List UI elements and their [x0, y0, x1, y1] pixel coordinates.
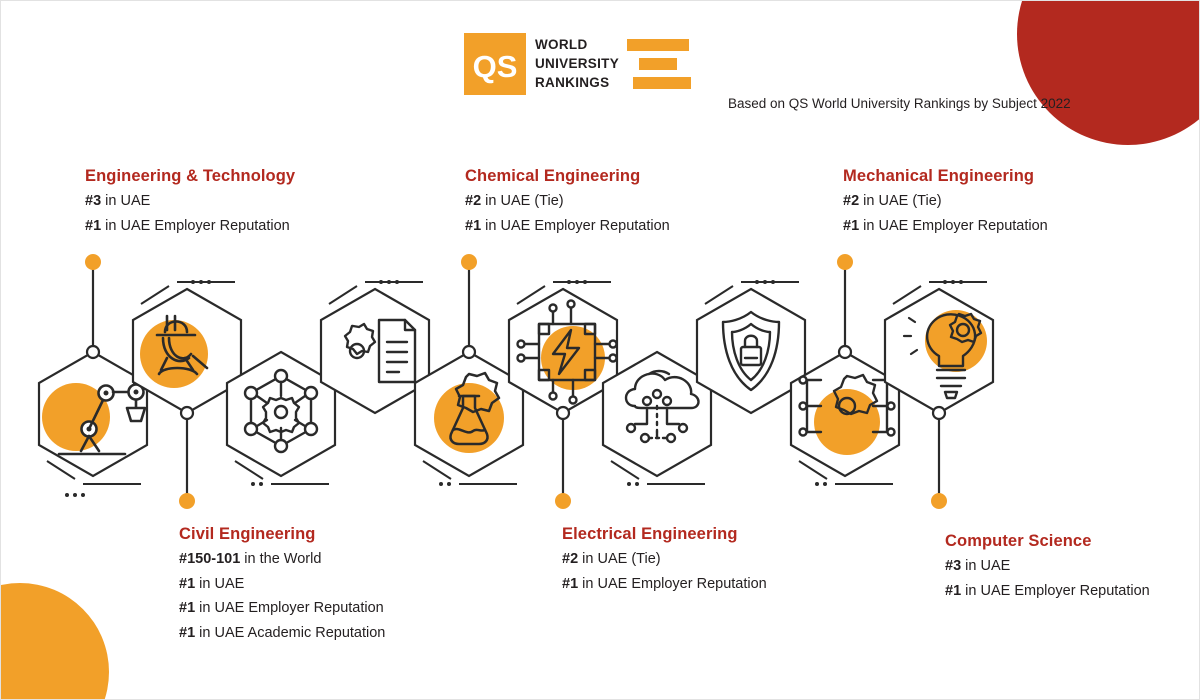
qs-word-rankings: RANKINGS — [535, 76, 627, 90]
stem-computer-science — [931, 407, 947, 509]
rank-value: #1 — [179, 625, 195, 641]
qs-word-university: UNIVERSITY — [535, 57, 627, 71]
rank-value: #1 — [179, 576, 195, 592]
rank-value: #3 — [85, 193, 101, 209]
qs-logo-mark: QS — [464, 33, 526, 95]
callout-civil-engineering: Civil Engineering #150-101 in the World … — [179, 525, 385, 642]
callout-line: #1 in UAE Employer Reputation — [179, 600, 385, 617]
callout-line: #3 in UAE — [85, 193, 295, 210]
qs-logo-line-2: UNIVERSITY — [535, 56, 691, 73]
rank-text: in UAE (Tie) — [578, 551, 660, 567]
qs-logo-line-3: RANKINGS — [535, 75, 691, 92]
qs-bar-1 — [627, 39, 689, 51]
rank-text: in UAE Employer Reputation — [578, 576, 767, 592]
rank-text: in UAE — [961, 558, 1010, 574]
rank-text: in UAE Employer Reputation — [961, 583, 1150, 599]
rank-text: in the World — [240, 551, 321, 567]
callout-line: #1 in UAE Employer Reputation — [562, 576, 767, 593]
callout-line: #1 in UAE Academic Reputation — [179, 625, 385, 642]
callout-mechanical-engineering: Mechanical Engineering #2 in UAE (Tie) #… — [843, 167, 1048, 234]
callout-line: #2 in UAE (Tie) — [843, 193, 1048, 210]
callout-chemical-engineering: Chemical Engineering #2 in UAE (Tie) #1 … — [465, 167, 670, 234]
callout-line: #1 in UAE Employer Reputation — [945, 583, 1150, 600]
rank-value: #2 — [562, 551, 578, 567]
stem-engineering-technology — [85, 254, 101, 358]
rank-value: #1 — [562, 576, 578, 592]
source-note: Based on QS World University Rankings by… — [728, 96, 1071, 111]
callout-line: #1 in UAE — [179, 576, 385, 593]
callout-line: #1 in UAE Employer Reputation — [85, 218, 295, 235]
rank-text: in UAE Academic Reputation — [195, 625, 385, 641]
rank-value: #1 — [179, 600, 195, 616]
stem-chemical-engineering — [461, 254, 477, 358]
qs-bar-3 — [633, 77, 691, 89]
callout-title: Chemical Engineering — [465, 167, 670, 186]
rank-text: in UAE — [101, 193, 150, 209]
stem-civil-engineering — [179, 407, 195, 509]
rank-value: #1 — [85, 218, 101, 234]
callout-electrical-engineering: Electrical Engineering #2 in UAE (Tie) #… — [562, 525, 767, 592]
rank-text: in UAE (Tie) — [481, 193, 563, 209]
callout-line: #3 in UAE — [945, 558, 1150, 575]
rank-value: #1 — [465, 218, 481, 234]
callout-title: Computer Science — [945, 532, 1150, 551]
rank-text: in UAE (Tie) — [859, 193, 941, 209]
svg-text:QS: QS — [473, 49, 518, 84]
rank-text: in UAE Employer Reputation — [859, 218, 1048, 234]
rank-value: #1 — [843, 218, 859, 234]
rank-text: in UAE Employer Reputation — [101, 218, 290, 234]
rank-text: in UAE Employer Reputation — [195, 600, 384, 616]
header: QS WORLD UNIVERSITY RANKINGS Based on QS… — [1, 29, 1200, 101]
rank-value: #1 — [945, 583, 961, 599]
callout-title: Civil Engineering — [179, 525, 385, 544]
callout-line: #1 in UAE Employer Reputation — [465, 218, 670, 235]
callout-title: Electrical Engineering — [562, 525, 767, 544]
stem-mechanical-engineering — [837, 254, 853, 358]
callout-line: #150-101 in the World — [179, 551, 385, 568]
callout-engineering-technology: Engineering & Technology #3 in UAE #1 in… — [85, 167, 295, 234]
stem-electrical-engineering — [555, 407, 571, 509]
callout-line: #1 in UAE Employer Reputation — [843, 218, 1048, 235]
callout-stems — [1, 246, 1200, 516]
rank-text: in UAE — [195, 576, 244, 592]
qs-bar-2 — [639, 58, 677, 70]
callout-title: Mechanical Engineering — [843, 167, 1048, 186]
qs-logo-line-1: WORLD — [535, 37, 691, 54]
qs-logo: QS WORLD UNIVERSITY RANKINGS — [464, 33, 691, 95]
rank-value: #2 — [465, 193, 481, 209]
rank-text: in UAE Employer Reputation — [481, 218, 670, 234]
callout-computer-science: Computer Science #3 in UAE #1 in UAE Emp… — [945, 532, 1150, 599]
rank-value: #150-101 — [179, 551, 240, 567]
rank-value: #3 — [945, 558, 961, 574]
infographic-canvas: QS WORLD UNIVERSITY RANKINGS Based on QS… — [0, 0, 1200, 700]
callout-line: #2 in UAE (Tie) — [562, 551, 767, 568]
callout-line: #2 in UAE (Tie) — [465, 193, 670, 210]
qs-word-world: WORLD — [535, 38, 627, 52]
qs-logo-wordmark: WORLD UNIVERSITY RANKINGS — [526, 33, 691, 95]
rank-value: #2 — [843, 193, 859, 209]
callout-title: Engineering & Technology — [85, 167, 295, 186]
bottom-left-decorative-blob — [0, 583, 109, 700]
